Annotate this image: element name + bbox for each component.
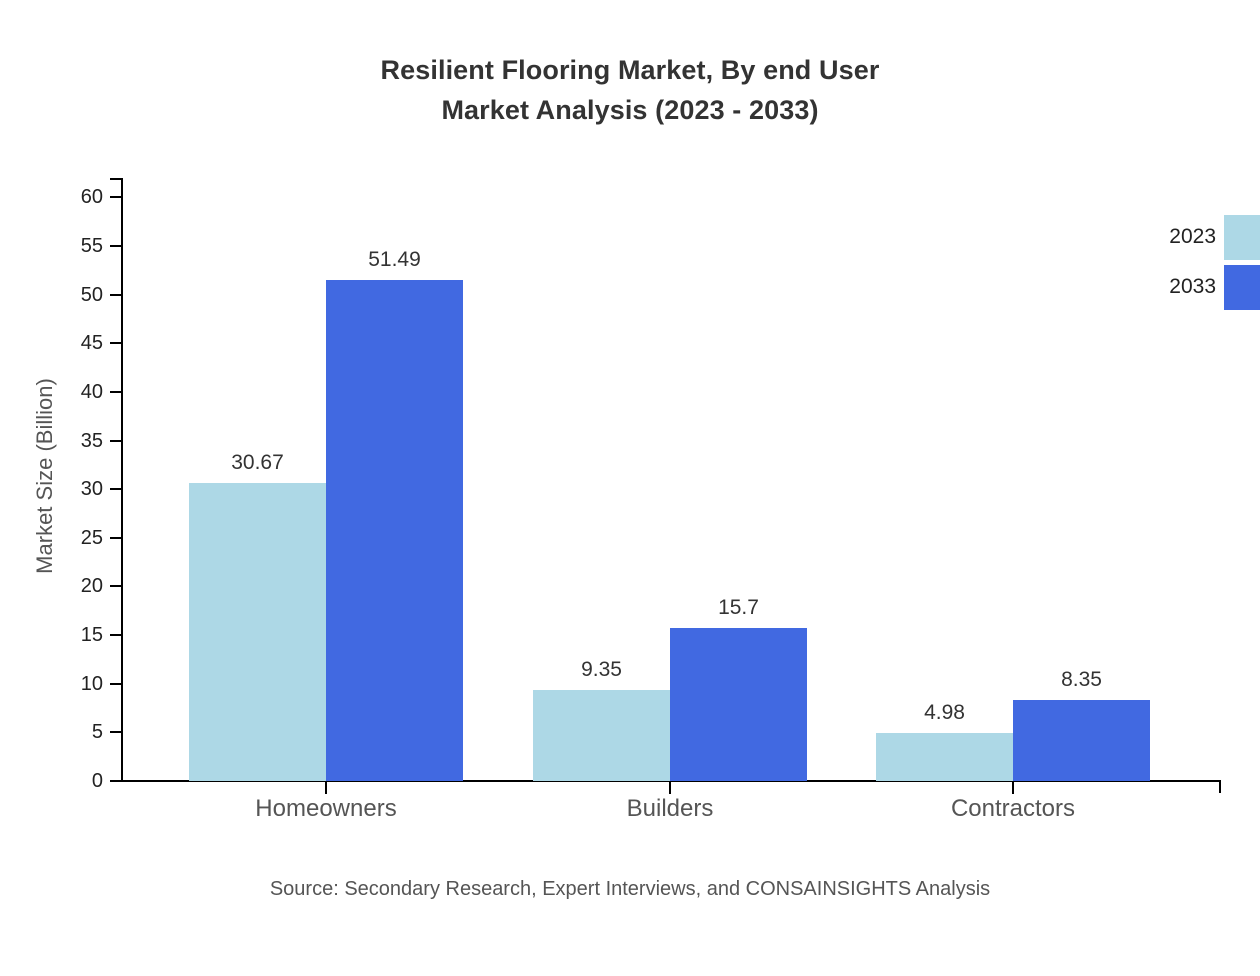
y-tick-label: 25 (81, 525, 103, 551)
y-tick-label: 55 (81, 233, 103, 259)
y-tick-mark (110, 245, 121, 247)
x-category-label-builders: Builders (627, 795, 714, 823)
source-note: Source: Secondary Research, Expert Inter… (0, 878, 1260, 901)
y-tick-mark (110, 391, 121, 393)
bar-homeowners-2023[interactable] (189, 483, 326, 781)
bar-builders-2033[interactable] (670, 628, 807, 781)
bar-contractors-2033[interactable] (1013, 700, 1150, 781)
bar-value-label-contractors-2033: 8.35 (1013, 668, 1150, 692)
y-axis-title: Market Size (Billion) (32, 0, 58, 976)
y-tick-mark (110, 731, 121, 733)
bar-homeowners-2033[interactable] (326, 280, 463, 781)
x-category-label-contractors: Contractors (951, 795, 1075, 823)
chart-title-block: Resilient Flooring Market, By end User M… (0, 50, 1260, 130)
y-tick-mark (110, 196, 121, 198)
y-tick-label: 35 (81, 428, 103, 454)
legend-swatch-2033 (1224, 265, 1260, 310)
y-tick-mark (110, 440, 121, 442)
bar-value-label-contractors-2023: 4.98 (876, 701, 1013, 725)
x-category-label-homeowners: Homeowners (255, 795, 396, 823)
y-tick-mark (110, 585, 121, 587)
x-tick-mark-builders (669, 782, 671, 794)
bar-value-label-homeowners-2033: 51.49 (326, 248, 463, 272)
chart-subtitle: Market Analysis (2023 - 2033) (0, 90, 1260, 130)
y-tick-mark (110, 342, 121, 344)
plot-bars-area: 30.679.354.9851.4915.78.35 (121, 178, 1221, 781)
y-tick-label: 20 (81, 573, 103, 599)
bar-value-label-homeowners-2023: 30.67 (189, 451, 326, 475)
y-tick-label: 5 (92, 719, 103, 745)
y-tick-label: 15 (81, 622, 103, 648)
y-tick-label: 0 (92, 768, 103, 794)
y-tick-label: 50 (81, 282, 103, 308)
y-tick-mark (110, 537, 121, 539)
legend-swatch-2023 (1224, 215, 1260, 260)
y-tick-label: 30 (81, 476, 103, 502)
y-tick-mark (110, 294, 121, 296)
y-tick-mark (110, 683, 121, 685)
bar-builders-2023[interactable] (533, 690, 670, 781)
legend-item-2033[interactable]: 2033 (1130, 265, 1260, 315)
y-tick-label: 10 (81, 671, 103, 697)
chart-legend: 2023 2033 (1130, 215, 1260, 315)
y-tick-mark (110, 488, 121, 490)
y-tick-mark (110, 780, 121, 782)
x-tick-mark-contractors (1012, 782, 1014, 794)
x-axis-end-cap (1219, 780, 1221, 793)
chart-figure: Resilient Flooring Market, By end User M… (0, 0, 1260, 920)
y-tick-mark (110, 634, 121, 636)
y-tick-label: 60 (81, 184, 103, 210)
legend-label-2033: 2033 (1130, 275, 1216, 299)
legend-item-2023[interactable]: 2023 (1130, 215, 1260, 265)
legend-label-2023: 2023 (1130, 225, 1216, 249)
y-tick-label: 45 (81, 330, 103, 356)
x-tick-mark-homeowners (325, 782, 327, 794)
bar-value-label-builders-2023: 9.35 (533, 658, 670, 682)
bar-contractors-2023[interactable] (876, 733, 1013, 781)
bar-value-label-builders-2033: 15.7 (670, 596, 807, 620)
y-tick-label: 40 (81, 379, 103, 405)
chart-title: Resilient Flooring Market, By end User (0, 50, 1260, 90)
